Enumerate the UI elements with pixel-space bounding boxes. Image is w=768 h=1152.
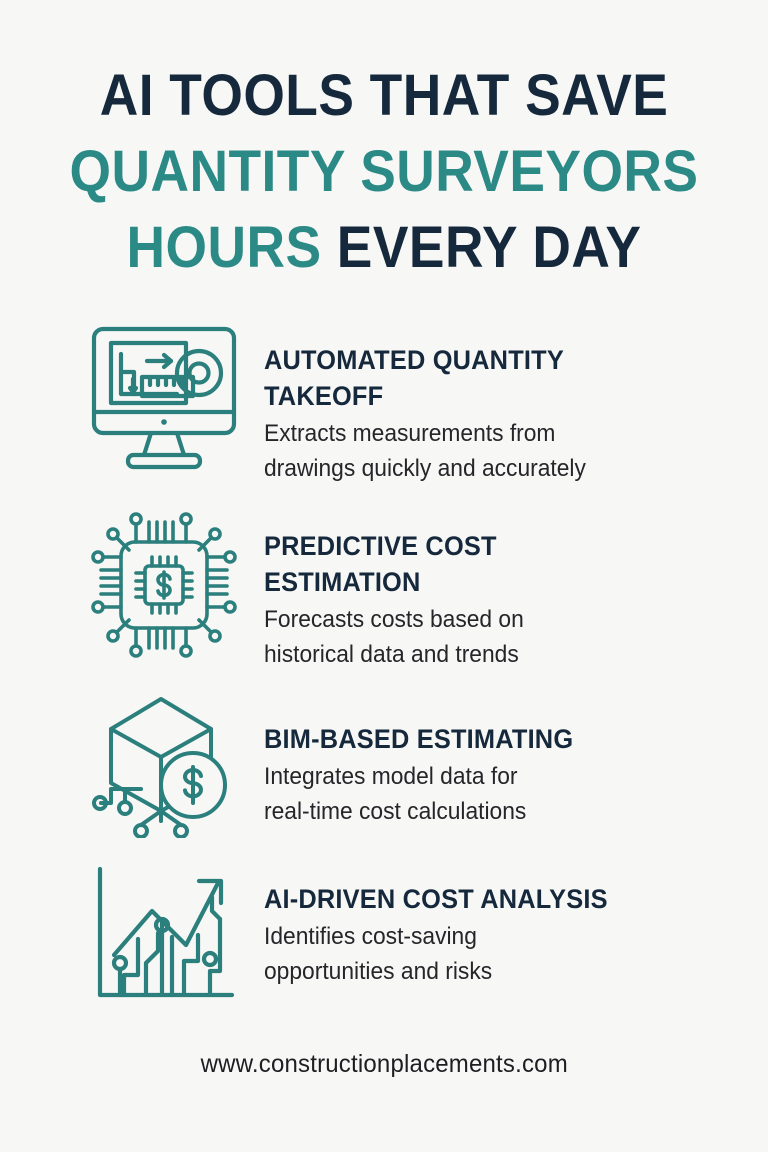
website-url[interactable]: www.constructionplacements.com [200, 1050, 567, 1079]
monitor-blueprint-measure-icon [86, 320, 242, 470]
title-line-2: QUANTITY SURVEYORS [31, 134, 738, 210]
title-line-3-dark: EVERY DAY [337, 215, 642, 280]
list-item: PREDICTIVE COST ESTIMATION Forecasts cos… [0, 506, 768, 689]
list-item: BIM-BASED ESTIMATING Integrates model da… [0, 689, 768, 859]
title-line-3-teal: HOURS [127, 215, 322, 280]
list-item-description: Forecasts costs based on historical data… [264, 602, 686, 672]
list-item-heading: AUTOMATED QUANTITY TAKEOFF [264, 342, 681, 414]
list-item-text: AUTOMATED QUANTITY TAKEOFF Extracts meas… [242, 320, 708, 486]
cpu-chip-dollar-icon [86, 506, 242, 656]
cube-dollar-network-icon [86, 689, 242, 839]
list-item: AUTOMATED QUANTITY TAKEOFF Extracts meas… [0, 320, 768, 506]
title-line-3: HOURS EVERY DAY [31, 210, 738, 286]
growth-chart-circuit-icon [86, 859, 242, 1009]
list-item-heading: BIM-BASED ESTIMATING [264, 721, 681, 757]
list-item-description: Integrates model data for real-time cost… [264, 759, 686, 829]
infographic-poster: AI TOOLS THAT SAVE QUANTITY SURVEYORS HO… [0, 0, 768, 1152]
list-item-heading: AI-DRIVEN COST ANALYSIS [264, 881, 681, 917]
list-item-description: Extracts measurements from drawings quic… [264, 416, 686, 486]
feature-list: AUTOMATED QUANTITY TAKEOFF Extracts meas… [0, 320, 768, 1024]
list-item-text: PREDICTIVE COST ESTIMATION Forecasts cos… [242, 506, 708, 672]
list-item-description: Identifies cost-saving opportunities and… [264, 919, 686, 989]
list-item-heading: PREDICTIVE COST ESTIMATION [264, 528, 681, 600]
title-line-1: AI TOOLS THAT SAVE [31, 58, 738, 134]
list-item: AI-DRIVEN COST ANALYSIS Identifies cost-… [0, 859, 768, 1024]
footer: www.constructionplacements.com [0, 1050, 768, 1079]
list-item-text: AI-DRIVEN COST ANALYSIS Identifies cost-… [242, 859, 708, 989]
list-item-text: BIM-BASED ESTIMATING Integrates model da… [242, 689, 708, 829]
page-title: AI TOOLS THAT SAVE QUANTITY SURVEYORS HO… [0, 0, 768, 286]
